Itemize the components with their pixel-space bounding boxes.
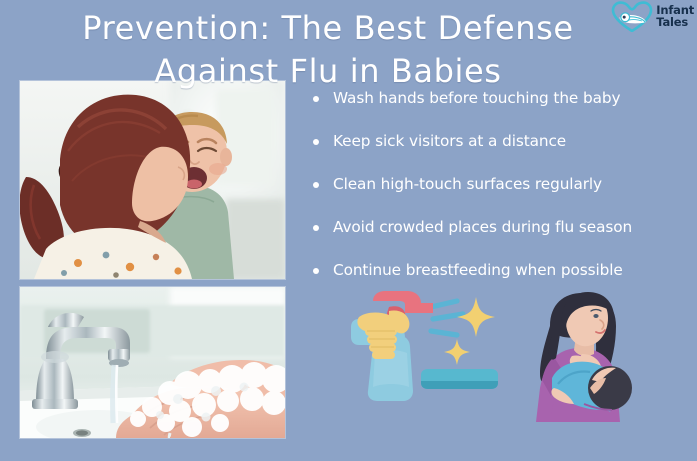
list-item-label: Keep sick visitors at a distance	[333, 131, 566, 152]
list-item-label: Avoid crowded places during flu season	[333, 217, 632, 238]
bullet-dot-icon	[313, 268, 319, 274]
bullet-dot-icon	[313, 225, 319, 231]
brand-name-line2: Tales	[656, 17, 694, 29]
list-item-label: Continue breastfeeding when possible	[333, 260, 623, 281]
brand-logo: Infant Tales	[611, 1, 694, 32]
list-item-label: Wash hands before touching the baby	[333, 88, 620, 109]
slide-canvas: Infant Tales Prevention: The Best Defens…	[0, 0, 697, 461]
list-item: Continue breastfeeding when possible	[308, 260, 693, 303]
bullet-dot-icon	[313, 182, 319, 188]
mother-baby-photo-graphic	[20, 81, 285, 279]
bullet-dot-icon	[313, 96, 319, 102]
heart-baby-icon	[611, 1, 653, 32]
list-item: Avoid crowded places during flu season	[308, 217, 693, 260]
list-item: Keep sick visitors at a distance	[308, 131, 693, 174]
list-item-label: Clean high-touch surfaces regularly	[333, 174, 602, 195]
brand-name: Infant Tales	[656, 5, 694, 28]
breastfeeding-graphic	[524, 292, 642, 422]
slide-title: Prevention: The Best Defense Against Flu…	[28, 7, 628, 92]
bullet-dot-icon	[313, 139, 319, 145]
prevention-tips-list: Wash hands before touching the baby Keep…	[308, 88, 693, 303]
breastfeeding-mother-illustration	[524, 292, 642, 422]
handwashing-photo-graphic	[20, 287, 285, 438]
list-item: Clean high-touch surfaces regularly	[308, 174, 693, 217]
list-item: Wash hands before touching the baby	[308, 88, 693, 131]
handwashing-faucet-photo	[20, 287, 285, 438]
mother-holding-crying-baby-photo	[20, 81, 285, 279]
